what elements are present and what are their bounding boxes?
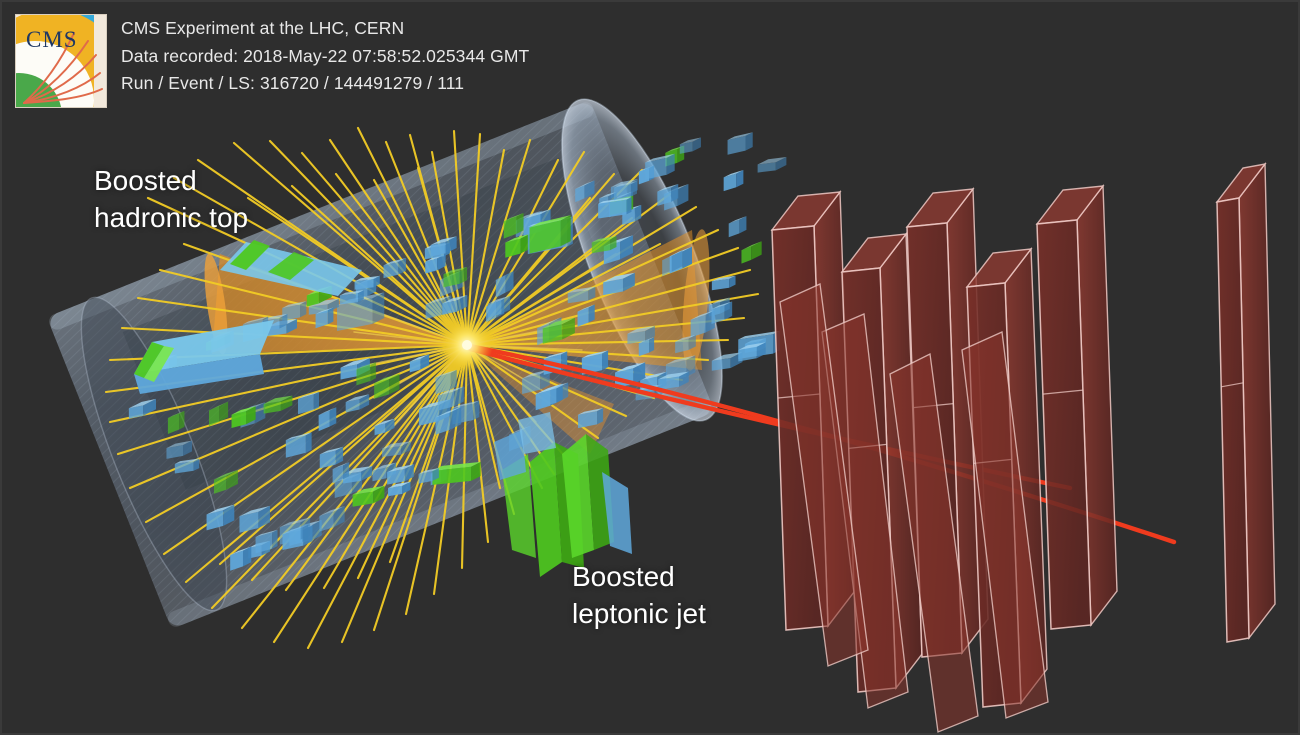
calorimeter-box <box>724 170 744 191</box>
muon-chambers <box>772 164 1275 732</box>
vertex-core <box>462 340 472 350</box>
calorimeter-box <box>680 138 701 154</box>
calorimeter-box <box>729 216 747 237</box>
muon-chamber-6 <box>1217 164 1275 642</box>
header-line-run-event-ls: Run / Event / LS: 316720 / 144491279 / 1… <box>121 70 529 98</box>
logo-text: CMS <box>26 27 78 53</box>
header-line-experiment: CMS Experiment at the LHC, CERN <box>121 15 529 43</box>
calorimeter-box <box>741 241 761 263</box>
muon-chamber-5 <box>1037 186 1117 629</box>
header-line-data-recorded: Data recorded: 2018-May-22 07:58:52.0253… <box>121 43 529 71</box>
cms-logo: CMS <box>15 14 107 108</box>
calorimeter-box <box>712 276 736 291</box>
calorimeter-box <box>758 157 787 173</box>
calorimeter-box <box>645 154 674 180</box>
event-info-header: CMS CMS Experiment at the LHC, CERN Data… <box>15 14 529 108</box>
calorimeter-box <box>728 132 753 154</box>
annotation-boosted-leptonic-jet: Boosted leptonic jet <box>572 558 706 632</box>
event-display-canvas: CMS CMS Experiment at the LHC, CERN Data… <box>0 0 1300 735</box>
annotation-boosted-hadronic-top: Boosted hadronic top <box>94 162 248 236</box>
